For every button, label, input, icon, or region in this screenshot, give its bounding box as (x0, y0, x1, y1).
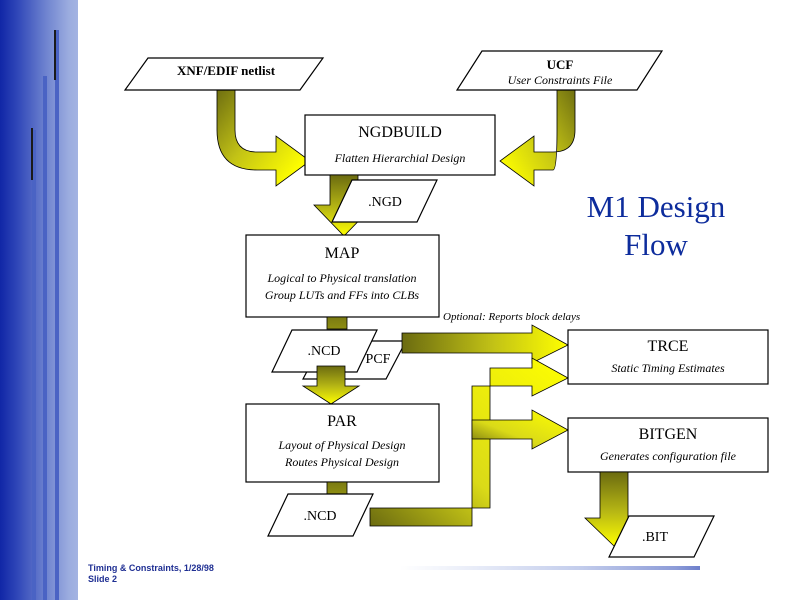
slide-canvas: Timing & Constraints, 1/28/98 Slide 2 M1… (0, 0, 800, 600)
node-ngd-label: .NGD (368, 195, 402, 210)
node-bitgen-sub: Generates configuration file (600, 449, 737, 463)
node-bitgen-title: BITGEN (639, 426, 698, 443)
node-trce-title: TRCE (648, 338, 689, 355)
node-ucf-sub: User Constraints File (508, 73, 613, 87)
node-map-sub-1: Logical to Physical translation (267, 271, 417, 285)
node-ucf-label: UCF (547, 57, 574, 72)
connector-ucf-to-ngdbuild (500, 84, 575, 186)
connector-xnf-to-ngdbuild (208, 84, 310, 186)
node-pcf-label: PCF (366, 352, 391, 367)
annotation-optional-trce: Optional: Reports block delays (443, 311, 580, 323)
node-map[interactable]: MAP Logical to Physical translation Grou… (246, 235, 439, 317)
node-ncd-2-label: .NCD (303, 509, 336, 524)
node-trce[interactable]: TRCE Static Timing Estimates (568, 330, 768, 384)
node-par[interactable]: PAR Layout of Physical Design Routes Phy… (246, 404, 439, 482)
node-par-title: PAR (327, 413, 357, 430)
design-flow-diagram: XNF/EDIF netlist UCF User Constraints Fi… (0, 0, 800, 600)
connector-map-to-ncd-stub (327, 317, 347, 329)
node-trce-sub: Static Timing Estimates (611, 361, 725, 375)
node-ucf[interactable]: UCF User Constraints File (457, 51, 662, 90)
connector-par-to-ncd-stub (327, 482, 347, 494)
node-map-title: MAP (325, 245, 360, 262)
node-ngdbuild-title: NGDBUILD (358, 124, 442, 141)
node-ngdbuild-sub: Flatten Hierarchial Design (334, 151, 466, 165)
node-par-sub-2: Routes Physical Design (284, 455, 399, 469)
node-xnf-label: XNF/EDIF netlist (177, 63, 276, 78)
node-ngdbuild[interactable]: NGDBUILD Flatten Hierarchial Design (305, 115, 495, 175)
connector-ncd-to-trce-optional: Optional: Reports block delays (402, 311, 580, 363)
node-map-sub-2: Group LUTs and FFs into CLBs (265, 288, 419, 302)
node-ncd-1-label: .NCD (307, 344, 340, 359)
node-ncd-file-2[interactable]: .NCD (268, 494, 373, 536)
node-bitgen[interactable]: BITGEN Generates configuration file (568, 418, 768, 472)
node-bit-label: .BIT (642, 530, 669, 545)
node-xnf-edif-netlist[interactable]: XNF/EDIF netlist (125, 58, 323, 90)
node-par-sub-1: Layout of Physical Design (278, 438, 406, 452)
